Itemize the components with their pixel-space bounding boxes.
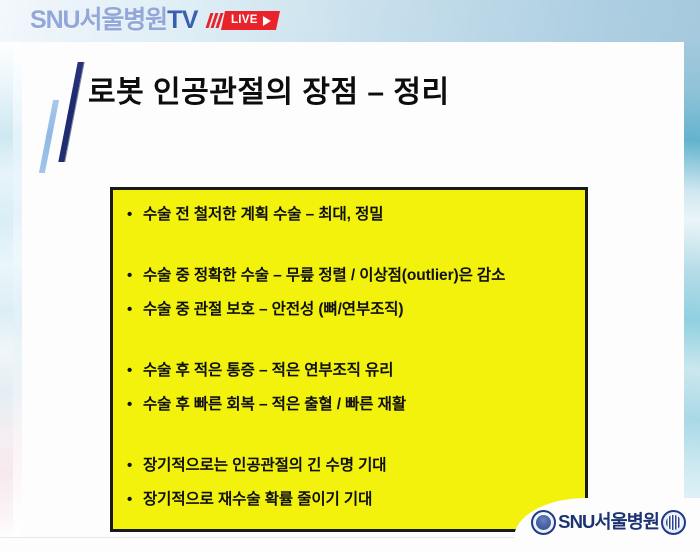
yellow-content-box: • 수술 전 철저한 계획 수술 – 최대, 정밀 • 수술 중 정확한 수술 … bbox=[110, 187, 588, 532]
bullet-marker: • bbox=[127, 202, 143, 227]
live-badge: LIVE bbox=[207, 11, 278, 30]
bullet-gap bbox=[113, 478, 585, 487]
list-item: • 수술 중 관절 보호 – 안전성 (뼈/연부조직) bbox=[113, 297, 585, 322]
list-item: • 수술 후 빠른 회복 – 적은 출혈 / 빠른 재활 bbox=[113, 392, 585, 417]
bottom-background-strip bbox=[0, 537, 700, 551]
list-item: • 수술 중 정확한 수술 – 무릎 정렬 / 이상점(outlier)은 감소 bbox=[113, 263, 585, 288]
bullet-text: 수술 중 정확한 수술 – 무릎 정렬 / 이상점(outlier)은 감소 bbox=[143, 263, 505, 288]
presentation-screenshot: SNU서울병원 TV LIVE 로봇 인공관절의 장점 – 정리 • 수 bbox=[0, 0, 700, 551]
live-pill: LIVE bbox=[221, 11, 280, 30]
bullet-text: 장기적으로는 인공관절의 긴 수명 기대 bbox=[143, 453, 386, 478]
bullet-gap bbox=[113, 288, 585, 297]
decoration-slash-dark bbox=[58, 62, 83, 162]
brand-tv-text: TV bbox=[167, 8, 198, 33]
bullet-marker: • bbox=[127, 358, 143, 383]
bullet-text: 수술 중 관절 보호 – 안전성 (뼈/연부조직) bbox=[143, 297, 404, 322]
bullet-gap bbox=[113, 227, 585, 263]
broadcast-header-bar: SNU서울병원 TV LIVE bbox=[0, 0, 700, 42]
bullet-gap bbox=[113, 322, 585, 358]
live-label: LIVE bbox=[231, 14, 258, 26]
bullet-list: • 수술 전 철저한 계획 수술 – 최대, 정밀 • 수술 중 정확한 수술 … bbox=[113, 190, 585, 512]
right-background-strip bbox=[684, 42, 700, 538]
footer-logo-text: SNU서울병원 bbox=[558, 513, 659, 532]
bullet-text: 수술 후 빠른 회복 – 적은 출혈 / 빠른 재활 bbox=[143, 392, 406, 417]
bullet-text: 수술 후 적은 통증 – 적은 연부조직 유리 bbox=[143, 358, 393, 383]
bullet-marker: • bbox=[127, 487, 143, 512]
footer-logo: SNU서울병원 bbox=[531, 509, 686, 535]
bullet-marker: • bbox=[127, 453, 143, 478]
decoration-slash-light bbox=[39, 100, 59, 173]
bullet-marker: • bbox=[127, 392, 143, 417]
list-item: • 장기적으로 재수술 확률 줄이기 기대 bbox=[113, 487, 585, 512]
list-item: • 수술 전 철저한 계획 수술 – 최대, 정밀 bbox=[113, 202, 585, 227]
bullet-text: 수술 전 철저한 계획 수술 – 최대, 정밀 bbox=[143, 202, 383, 227]
brand-name-text: SNU서울병원 bbox=[30, 8, 167, 33]
bullet-marker: • bbox=[127, 297, 143, 322]
channel-branding: SNU서울병원 TV LIVE bbox=[30, 3, 278, 37]
university-seal-icon bbox=[661, 510, 686, 535]
slide-title: 로봇 인공관절의 장점 – 정리 bbox=[88, 76, 450, 111]
list-item: • 수술 후 적은 통증 – 적은 연부조직 유리 bbox=[113, 358, 585, 383]
play-triangle-icon bbox=[263, 15, 271, 25]
bullet-gap bbox=[113, 383, 585, 392]
bullet-gap bbox=[113, 417, 585, 453]
list-item: • 장기적으로는 인공관절의 긴 수명 기대 bbox=[113, 453, 585, 478]
bullet-marker: • bbox=[127, 263, 143, 288]
bullet-text: 장기적으로 재수술 확률 줄이기 기대 bbox=[143, 487, 372, 512]
hospital-crest-icon bbox=[531, 510, 556, 535]
